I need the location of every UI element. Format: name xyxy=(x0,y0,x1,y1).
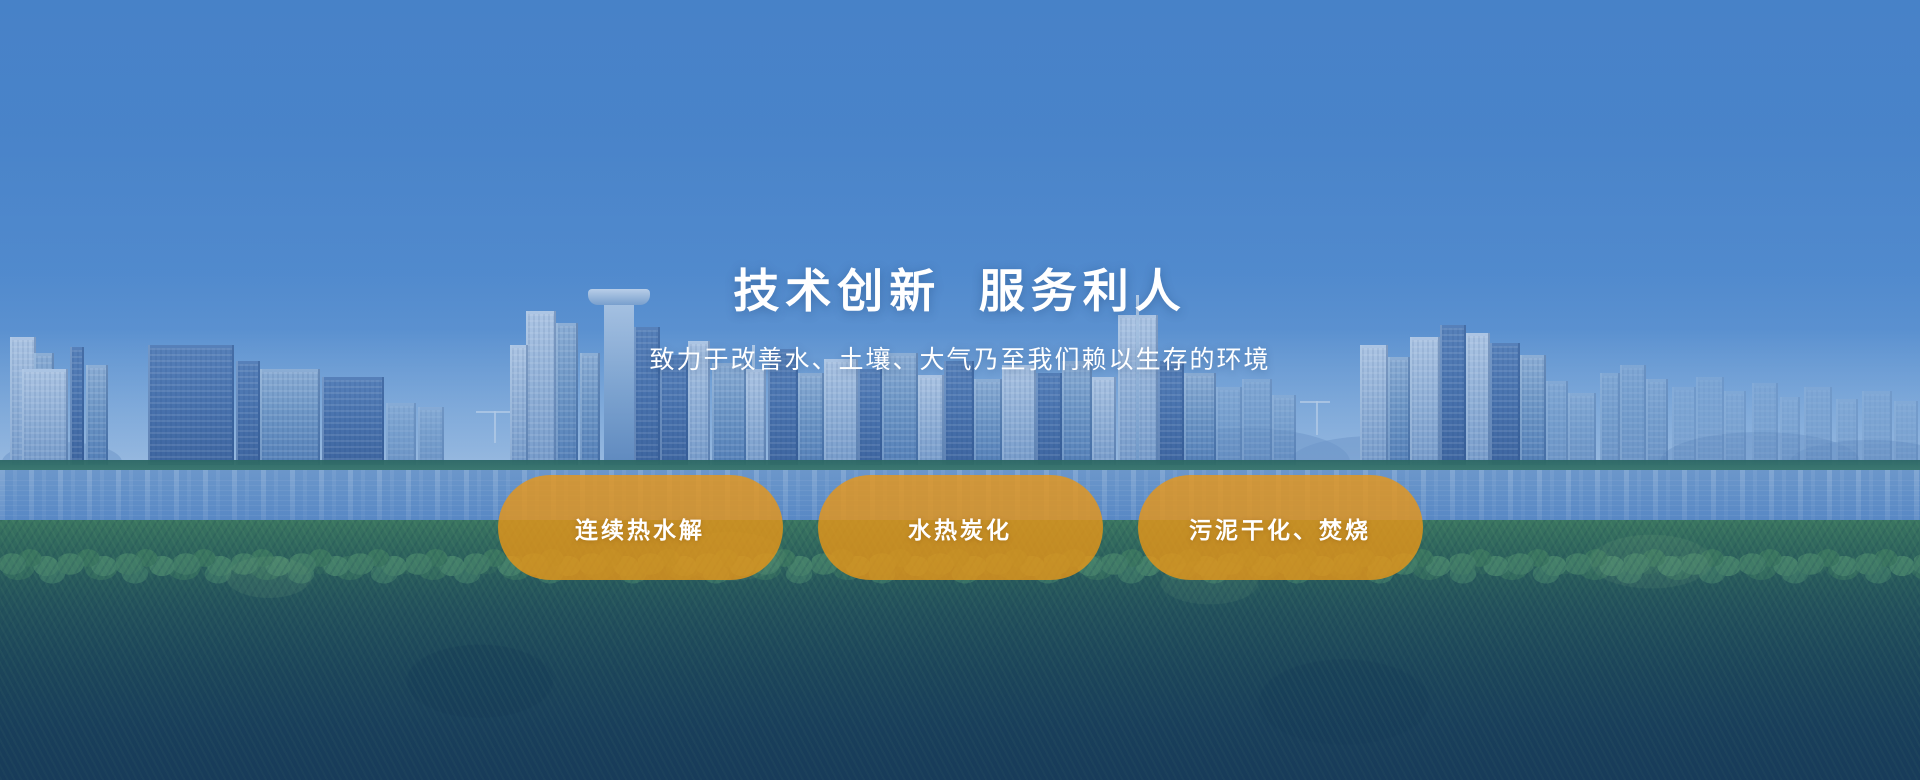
hero-content: 技术创新 服务利人 致力于改善水、土壤、大气乃至我们赖以生存的环境 连续热水解 … xyxy=(0,0,1920,780)
hero-headline: 技术创新 服务利人 xyxy=(0,268,1920,314)
hero-cta-group: 连续热水解 水热炭化 污泥干化、焚烧 xyxy=(0,475,1920,580)
hero-subheadline: 致力于改善水、土壤、大气乃至我们赖以生存的环境 xyxy=(0,345,1920,375)
hero-banner: 技术创新 服务利人 致力于改善水、土壤、大气乃至我们赖以生存的环境 连续热水解 … xyxy=(0,0,1920,780)
cta-pill-sludge-drying-incineration[interactable]: 污泥干化、焚烧 xyxy=(1138,475,1423,580)
cta-pill-continuous-thermal-hydrolysis[interactable]: 连续热水解 xyxy=(498,475,783,580)
cta-pill-hydrothermal-carbonization[interactable]: 水热炭化 xyxy=(818,475,1103,580)
